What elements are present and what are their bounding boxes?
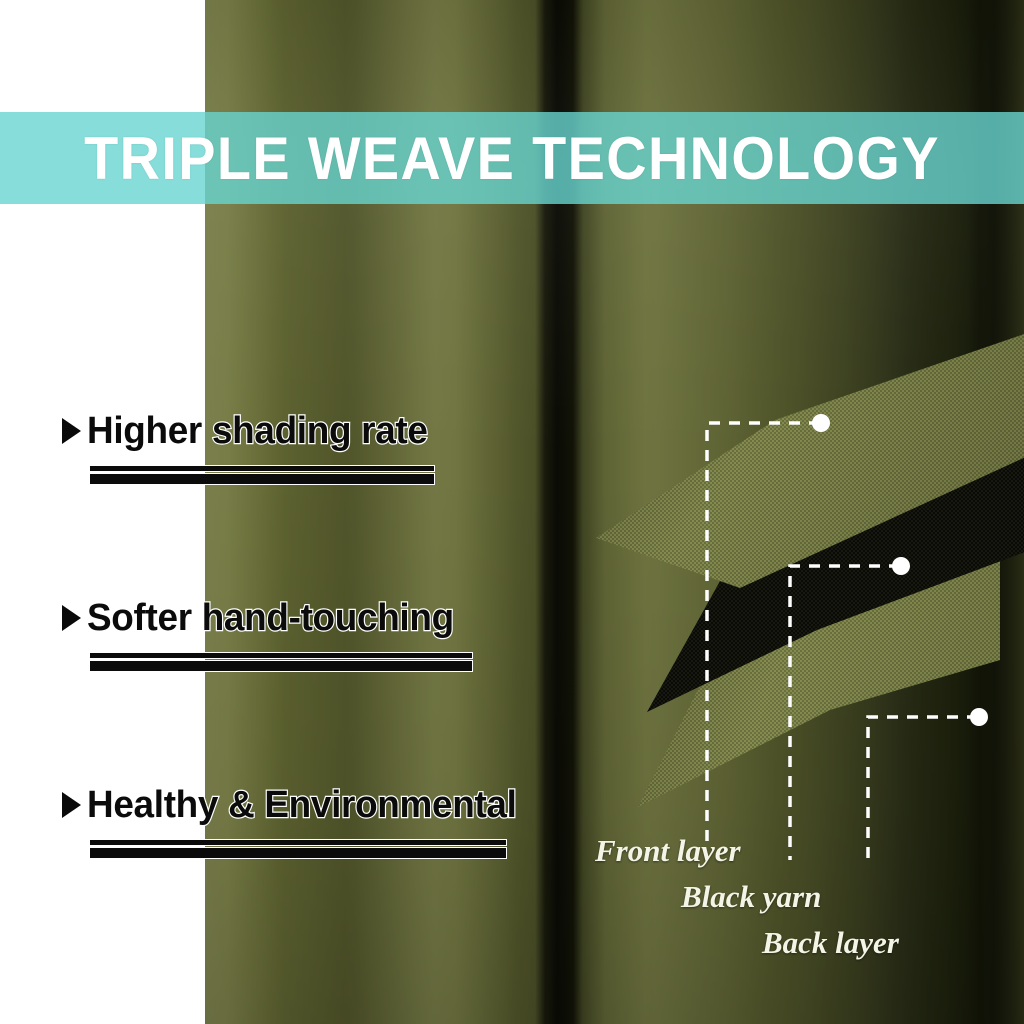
feature-underline <box>89 839 622 859</box>
feature-item-healthy-environmental: Healthy & Environmental <box>62 784 622 859</box>
triple-weave-layer-diagram <box>590 280 1024 860</box>
feature-item-higher-shading-rate: Higher shading rate <box>62 410 622 485</box>
feature-list: Higher shading rate Softer hand-touching… <box>62 410 622 971</box>
triangle-right-icon <box>62 605 81 631</box>
underline-thin-bar <box>89 465 435 472</box>
underline-thick-bar <box>89 660 473 672</box>
underline-thick-bar <box>89 473 435 485</box>
feature-label: Healthy & Environmental <box>87 784 517 827</box>
underline-thick-bar <box>89 847 507 859</box>
page-title: TRIPLE WEAVE TECHNOLOGY <box>36 112 988 204</box>
feature-item-softer-hand-touching: Softer hand-touching <box>62 597 622 672</box>
callout-label-front-layer: Front layer <box>595 833 741 869</box>
feature-label: Softer hand-touching <box>87 597 454 640</box>
underline-thin-bar <box>89 652 473 659</box>
triangle-right-icon <box>62 418 81 444</box>
feature-label: Higher shading rate <box>87 410 428 453</box>
underline-thin-bar <box>89 839 507 846</box>
feature-underline <box>89 465 622 485</box>
feature-underline <box>89 652 622 672</box>
product-feature-image: TRIPLE WEAVE TECHNOLOGY Higher shading r… <box>0 0 1024 1024</box>
triangle-right-icon <box>62 792 81 818</box>
callout-label-back-layer: Back layer <box>762 925 899 961</box>
callout-label-black-yarn: Black yarn <box>681 879 821 915</box>
